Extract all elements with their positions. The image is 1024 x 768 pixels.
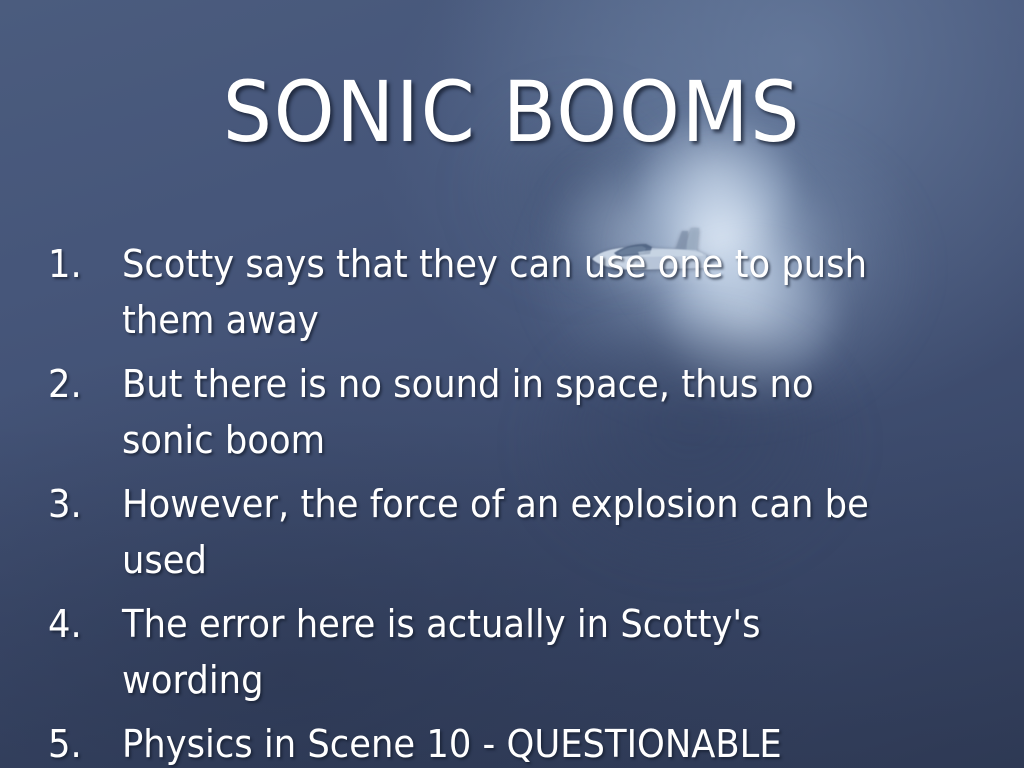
list-item-text: The error here is actually in Scotty's w… <box>122 596 908 708</box>
list-item-text: However, the force of an explosion can b… <box>122 476 908 588</box>
presentation-slide: Sonic Booms 1. Scotty says that they can… <box>0 0 1024 768</box>
slide-title: Sonic Booms <box>41 70 983 154</box>
list-item: 4. The error here is actually in Scotty'… <box>48 596 976 708</box>
list-item-number: 1. <box>48 236 117 292</box>
list-item-number: 4. <box>48 596 117 652</box>
list-item-text: Physics in Scene 10 - QUESTIONABLE <box>122 716 908 768</box>
list-item-text: Scotty says that they can use one to pus… <box>122 236 908 348</box>
numbered-list: 1. Scotty says that they can use one to … <box>48 236 976 768</box>
list-item: 5. Physics in Scene 10 - QUESTIONABLE <box>48 716 976 768</box>
list-item: 2. But there is no sound in space, thus … <box>48 356 976 468</box>
list-item-number: 2. <box>48 356 117 412</box>
list-item-text: But there is no sound in space, thus no … <box>122 356 908 468</box>
list-item-number: 5. <box>48 716 117 768</box>
list-item: 1. Scotty says that they can use one to … <box>48 236 976 348</box>
list-item: 3. However, the force of an explosion ca… <box>48 476 976 588</box>
list-item-number: 3. <box>48 476 117 532</box>
